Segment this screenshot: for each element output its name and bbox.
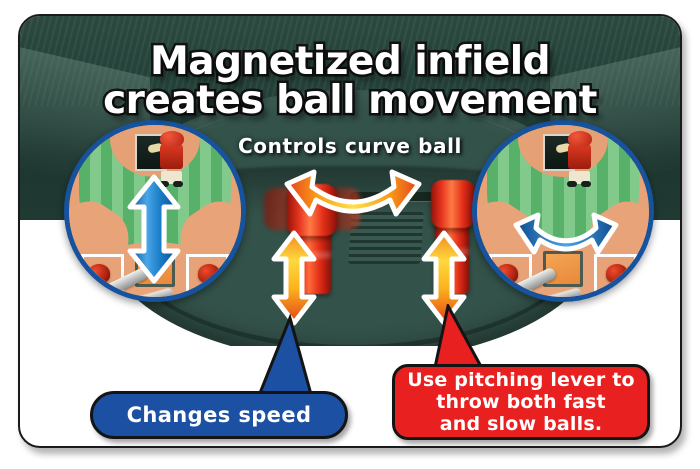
glove-right — [198, 264, 220, 283]
product-photo: Magnetized infield creates ball movement… — [20, 16, 680, 346]
blue-vertical-double-arrow-icon — [124, 174, 184, 284]
pitcher-shoe-left — [567, 181, 577, 187]
glove-right — [606, 264, 628, 283]
callout-pitching-label: Use pitching lever to throw both fast an… — [407, 369, 634, 435]
blue-curved-double-arrow-icon — [512, 212, 620, 264]
orange-vertical-double-arrow-left-icon — [270, 230, 318, 326]
callout-tail-speed — [246, 314, 316, 400]
poster-canvas: Magnetized infield creates ball movement… — [0, 0, 700, 469]
orange-curved-double-arrow-icon — [282, 168, 424, 222]
glove-left — [496, 264, 518, 283]
subtitle: Controls curve ball — [20, 134, 680, 158]
callout-speed-label: Changes speed — [127, 403, 312, 427]
glove-left — [88, 264, 110, 283]
pitcher-shoe-right — [581, 181, 591, 187]
callout-pitching-lever: Use pitching lever to throw both fast an… — [392, 364, 650, 440]
poster-frame: Magnetized infield creates ball movement… — [18, 14, 682, 448]
callout-changes-speed: Changes speed — [90, 391, 348, 439]
pitching-lever-knob — [431, 180, 475, 228]
